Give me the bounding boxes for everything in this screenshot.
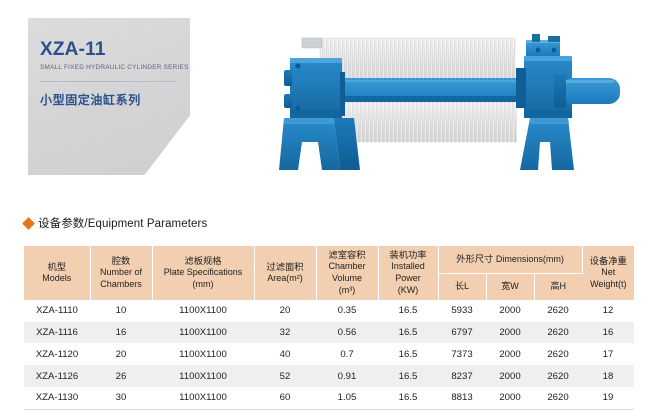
- column-header-power-cn: 装机功率: [380, 249, 437, 261]
- cell-model: XZA-1120: [24, 343, 90, 365]
- cell-area: 20: [254, 300, 316, 322]
- cell-dim-height: 2620: [534, 365, 582, 387]
- cell-dim-width: 2000: [486, 322, 534, 344]
- column-header-volume-en: Chamber Volume: [318, 261, 377, 285]
- cell-weight: 16: [582, 322, 634, 344]
- column-header-power-unit: (KW): [380, 285, 437, 297]
- cell-power: 16.5: [378, 365, 438, 387]
- table-header-row: 机型 Models 腔数 Number of Chambers 滤板规格 Pla…: [24, 246, 634, 274]
- table-row: XZA-1110101100X1100200.3516.559332000262…: [24, 300, 634, 322]
- filter-plate-stack-lower: [334, 102, 516, 142]
- cell-dim-height: 2620: [534, 322, 582, 344]
- cell-volume: 0.56: [316, 322, 378, 344]
- cell-volume: 0.35: [316, 300, 378, 322]
- column-header-dim-length: 长L: [438, 274, 486, 300]
- column-header-dimensions-group: 外形尺寸 Dimensions(mm): [438, 246, 582, 274]
- cell-weight: 12: [582, 300, 634, 322]
- cell-dim-height: 2620: [534, 387, 582, 409]
- column-header-plate-cn: 滤板规格: [154, 255, 253, 267]
- cell-model: XZA-1116: [24, 322, 90, 344]
- equipment-parameters-heading: 设备参数/Equipment Parameters: [24, 215, 207, 231]
- product-series-title-cn: 小型固定油缸系列: [40, 91, 185, 108]
- cell-chambers: 20: [90, 343, 152, 365]
- column-header-chambers-en2: Chambers: [92, 279, 151, 291]
- cell-weight: 17: [582, 343, 634, 365]
- cell-dim-height: 2620: [534, 343, 582, 365]
- product-series-subtitle-en: SMALL FIXED HYDRAULIC CYLINDER SERIES: [40, 64, 185, 71]
- product-model-title: XZA-11: [40, 40, 185, 61]
- cell-dim-width: 2000: [486, 343, 534, 365]
- column-header-chambers-en: Number of: [92, 267, 151, 279]
- column-header-dimensions-en: Dimensions(mm): [496, 254, 564, 264]
- cell-power: 16.5: [378, 343, 438, 365]
- right-head-assembly: [516, 34, 620, 170]
- cell-chambers: 16: [90, 322, 152, 344]
- cell-area: 60: [254, 387, 316, 409]
- cell-chambers: 26: [90, 365, 152, 387]
- cell-power: 16.5: [378, 387, 438, 409]
- cell-weight: 18: [582, 365, 634, 387]
- cell-plate: 1100X1100: [152, 322, 254, 344]
- cell-volume: 0.7: [316, 343, 378, 365]
- cell-dim-width: 2000: [486, 387, 534, 409]
- column-header-chambers-cn: 腔数: [92, 255, 151, 267]
- table-row: XZA-1116161100X1100320.5616.567972000262…: [24, 322, 634, 344]
- table-header: 机型 Models 腔数 Number of Chambers 滤板规格 Pla…: [24, 246, 634, 300]
- column-header-weight-en: Net Weight(t): [584, 267, 634, 291]
- cell-dim-length: 8813: [438, 387, 486, 409]
- cell-model: XZA-1130: [24, 387, 90, 409]
- cell-area: 32: [254, 322, 316, 344]
- column-header-filter-area: 过滤面积 Area(m²): [254, 246, 316, 300]
- cell-dim-length: 8237: [438, 365, 486, 387]
- column-header-dim-height: 高H: [534, 274, 582, 300]
- column-header-models: 机型 Models: [24, 246, 90, 300]
- column-header-installed-power: 装机功率 Installed Power (KW): [378, 246, 438, 300]
- column-header-models-en: Models: [25, 273, 89, 285]
- cell-power: 16.5: [378, 300, 438, 322]
- cell-plate: 1100X1100: [152, 343, 254, 365]
- column-header-chamber-volume: 滤室容积 Chamber Volume (m³): [316, 246, 378, 300]
- column-header-area-en: Area(m²): [256, 273, 315, 285]
- table-row: XZA-1120201100X1100400.716.5737320002620…: [24, 343, 634, 365]
- main-beam: [318, 78, 550, 102]
- cell-plate: 1100X1100: [152, 300, 254, 322]
- table-row: XZA-1130301100X1100601.0516.588132000262…: [24, 387, 634, 409]
- cell-dim-width: 2000: [486, 300, 534, 322]
- table-row: XZA-1126261100X1100520.9116.582372000262…: [24, 365, 634, 387]
- hero-section: XZA-11 SMALL FIXED HYDRAULIC CYLINDER SE…: [0, 0, 657, 200]
- cell-dim-width: 2000: [486, 365, 534, 387]
- column-header-weight-cn: 设备净重: [584, 255, 634, 267]
- cell-power: 16.5: [378, 322, 438, 344]
- banner-divider: [40, 81, 176, 82]
- column-header-dimensions-cn: 外形尺寸: [456, 254, 493, 264]
- column-header-volume-unit: (m³): [318, 285, 377, 297]
- specifications-table: 机型 Models 腔数 Number of Chambers 滤板规格 Pla…: [24, 246, 634, 410]
- column-header-plate-en: Plate Specifications: [154, 267, 253, 279]
- product-banner-text: XZA-11 SMALL FIXED HYDRAULIC CYLINDER SE…: [40, 40, 185, 108]
- specifications-table-container: 机型 Models 腔数 Number of Chambers 滤板规格 Pla…: [24, 246, 634, 410]
- column-header-plate-unit: (mm): [154, 279, 253, 291]
- cell-area: 40: [254, 343, 316, 365]
- column-header-models-cn: 机型: [25, 261, 89, 273]
- table-body: XZA-1110101100X1100200.3516.559332000262…: [24, 300, 634, 409]
- cell-dim-length: 7373: [438, 343, 486, 365]
- filter-press-machine-image: [262, 20, 654, 192]
- column-header-chambers: 腔数 Number of Chambers: [90, 246, 152, 300]
- cell-model: XZA-1126: [24, 365, 90, 387]
- cell-chambers: 10: [90, 300, 152, 322]
- section-heading-label: 设备参数/Equipment Parameters: [38, 215, 207, 231]
- cell-dim-length: 5933: [438, 300, 486, 322]
- cell-area: 52: [254, 365, 316, 387]
- column-header-power-en: Installed Power: [380, 261, 437, 285]
- cell-plate: 1100X1100: [152, 365, 254, 387]
- column-header-area-cn: 过滤面积: [256, 261, 315, 273]
- cell-model: XZA-1110: [24, 300, 90, 322]
- diamond-icon: [22, 217, 35, 230]
- column-header-plate-specifications: 滤板规格 Plate Specifications (mm): [152, 246, 254, 300]
- column-header-volume-cn: 滤室容积: [318, 249, 377, 261]
- cell-dim-length: 6797: [438, 322, 486, 344]
- cell-weight: 19: [582, 387, 634, 409]
- cell-dim-height: 2620: [534, 300, 582, 322]
- column-header-dim-width: 宽W: [486, 274, 534, 300]
- cell-chambers: 30: [90, 387, 152, 409]
- cell-volume: 0.91: [316, 365, 378, 387]
- cell-plate: 1100X1100: [152, 387, 254, 409]
- cell-volume: 1.05: [316, 387, 378, 409]
- column-header-net-weight: 设备净重 Net Weight(t): [582, 246, 634, 300]
